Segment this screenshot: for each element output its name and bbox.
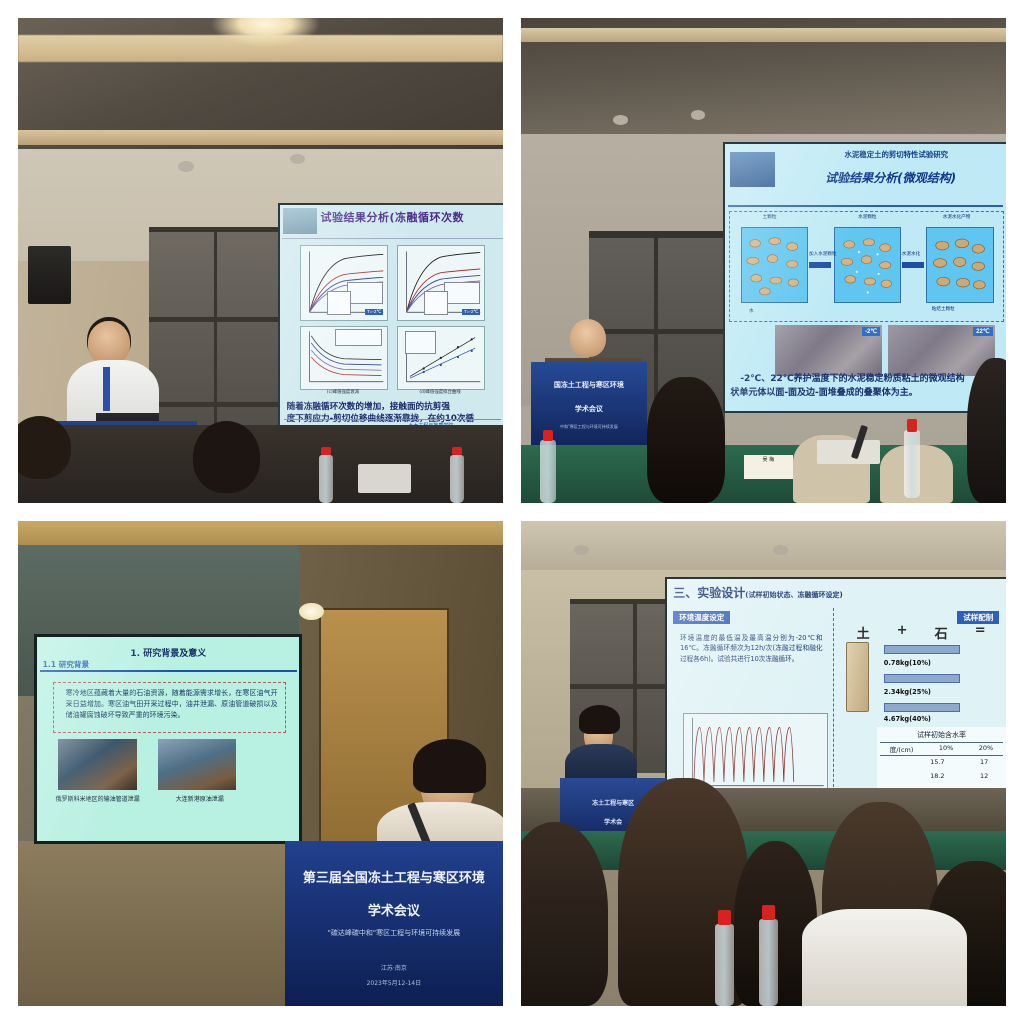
cell: 12	[980, 772, 988, 780]
smoke-detector-icon	[613, 115, 628, 125]
sem-temp-badge-left: -2℃	[862, 327, 880, 336]
water-bottle	[540, 440, 556, 503]
lower-wall	[18, 841, 309, 1006]
projection-screen: 三、实验设计(试样初始状态、冻融循环设定) 环境温度设定 试样配制 环境温度的最…	[667, 579, 1007, 822]
mix-chip-1	[884, 645, 961, 654]
case-photo-right-caption: 大连新港原油泄漏	[153, 794, 247, 803]
chart-d-caption: (d)峰值强度拟合曲线	[397, 389, 483, 395]
ceiling-trim	[18, 130, 503, 146]
table-header-2: 20%	[979, 744, 993, 754]
diagram-cell-3	[926, 227, 993, 303]
chandelier	[212, 18, 319, 47]
photo-top-right: 水泥稳定土的剪切特性试验研究 试验结果分析(微观结构)	[521, 18, 1006, 503]
banner-date: 2023年5月12-14日	[289, 978, 499, 987]
chart-a: T=-2℃	[300, 245, 388, 321]
smoke-detector-icon	[178, 161, 194, 172]
diagram-label-2: 水泥颗粒	[858, 214, 876, 220]
lectern-banner: 第三届全国冻土工程与寒区环境 学术会议 "碳达峰碳中和"寒区工程与环境可持续发展…	[285, 841, 503, 1006]
slide-research-background: 1. 研究背景及意义 1.1 研究背景 寒冷地区蕴藏着大量的石油资源，随着能源需…	[37, 637, 299, 841]
slide-title-main: 三、实验设计	[673, 586, 745, 600]
table-header-0: 度/(cm)	[890, 744, 914, 754]
mix-chip-3	[884, 703, 961, 712]
diagram-cell-2	[834, 227, 901, 303]
process-arrow-1	[809, 262, 831, 268]
column-divider	[833, 608, 834, 797]
mix-eq-3: =	[975, 623, 986, 642]
mix-chip-2	[884, 674, 961, 683]
diagram-label-3: 水泥水化产物	[943, 214, 971, 220]
slide-title: 试验结果分析(冻融循环次数	[320, 209, 503, 225]
chart-a-temp-badge: T=-2℃	[365, 309, 383, 315]
title-rule	[282, 238, 503, 239]
table-row: 18.2 12	[877, 772, 1006, 780]
photo-bottom-right: 三、实验设计(试样初始状态、冻融循环设定) 环境温度设定 试样配制 环境温度的最…	[521, 521, 1006, 1006]
photo-collage: 试验结果分析(冻融循环次数 T=-2℃	[0, 0, 1024, 1024]
smoke-detector-icon	[773, 545, 788, 555]
conclusion-line-1: -2℃、22℃养护温度下的水泥稳定粉质粘土的微观结构	[730, 373, 1000, 387]
conclusion-line-1: 随着冻融循环次数的增加，接触面的抗剪强	[287, 401, 499, 413]
chart-b-legend	[444, 282, 480, 303]
cell: 18.2	[930, 772, 944, 780]
mix-eq-0: 土	[857, 623, 870, 642]
water-bottle	[904, 430, 920, 498]
chart-b-inset	[424, 291, 448, 315]
chart-a-legend	[347, 282, 383, 303]
slide-subtitle: 1.1 研究背景	[43, 659, 89, 670]
diagram-label-5: 水	[749, 308, 754, 314]
mix-eq-2: 石	[935, 623, 948, 642]
table-row: 15.7 17	[877, 758, 1006, 766]
slide-header-photo	[730, 152, 775, 187]
title-rule	[728, 205, 1004, 207]
water-bottle	[715, 924, 734, 1006]
banner-location: 江苏·南京	[289, 963, 499, 972]
slide-microstructure: 水泥稳定土的剪切特性试验研究 试验结果分析(微观结构)	[725, 144, 1006, 411]
water-bottle	[450, 455, 465, 504]
chart-d	[397, 326, 485, 390]
body-text: 寒冷地区蕴藏着大量的石油资源，随着能源需求增长，在寒区油气开采日益增加。寒区油气…	[66, 688, 278, 721]
projection-screen: 试验结果分析(冻融循环次数 T=-2℃	[280, 205, 503, 443]
smoke-detector-icon	[691, 110, 706, 120]
cell: 15.7	[930, 758, 944, 766]
arrow-label-1: 加入水泥颗粒	[809, 251, 837, 257]
audience-head	[967, 358, 1006, 504]
photo-bottom-left: 1. 研究背景及意义 1.1 研究背景 寒冷地区蕴藏着大量的石油资源，随着能源需…	[18, 521, 503, 1006]
projection-screen: 1. 研究背景及意义 1.1 研究背景 寒冷地区蕴藏着大量的石油资源，随着能源需…	[37, 637, 299, 841]
process-arrow-2	[902, 262, 924, 268]
chart-d-legend	[405, 331, 436, 354]
body-text: 环境温度的最低温及最高温分别为-20℃和16℃。冻融循环频次为12h/次(冻融过…	[680, 633, 823, 665]
slide-freeze-thaw-results: 试验结果分析(冻融循环次数 T=-2℃	[280, 205, 503, 443]
table-header-1: 10%	[939, 744, 953, 754]
diagram-cell-1	[741, 227, 808, 303]
sem-temp-badge-right: 22℃	[973, 327, 992, 336]
mix-equation: 土 + 石 =	[843, 623, 999, 642]
chart-b: T=-2℃	[397, 245, 485, 321]
temperature-cycle-chart	[683, 713, 828, 793]
slide-title-sub: (试样初始状态、冻融循环设定)	[745, 591, 842, 599]
slide-title: 1. 研究背景及意义	[37, 646, 299, 659]
banner-line-3: "碳达峰碳中和"寒区工程与环境可持续发展	[289, 928, 499, 938]
slide-title: 三、实验设计(试样初始状态、冻融循环设定)	[673, 584, 842, 601]
chart-c-legend	[335, 329, 382, 346]
mix-mass-1: 0.78kg(10%)	[884, 659, 931, 667]
name-card: 吴 梅	[744, 455, 793, 479]
sem-image-left: -2℃	[775, 325, 882, 376]
banner-line-1: 第三届全国冻土工程与寒区环境	[289, 867, 499, 886]
presenter-head	[570, 319, 606, 358]
temperature-cycle-svg	[684, 714, 827, 792]
presenter-hair	[579, 705, 620, 734]
ceiling-cove-light	[521, 28, 1006, 43]
presenter-lanyard	[103, 367, 110, 411]
photo-top-left: 试验结果分析(冻融循环次数 T=-2℃	[18, 18, 503, 503]
projection-screen: 水泥稳定土的剪切特性试验研究 试验结果分析(微观结构)	[725, 144, 1006, 411]
case-photo-left	[58, 739, 137, 790]
conclusion-line-2: 状单元体以面-面及边-面堆叠成的叠聚体为主。	[730, 387, 1000, 401]
specimen-cylinder	[846, 642, 868, 712]
chart-c-caption: (c)峰值强度衰减	[300, 389, 386, 395]
chart-c	[300, 326, 388, 390]
table-header-row: 度/(cm) 10% 20%	[877, 744, 1006, 754]
chart-a-inset	[327, 291, 351, 315]
slide-title: 试验结果分析(微观结构)	[781, 169, 1000, 186]
slide-conclusion: -2℃、22℃养护温度下的水泥稳定粉质粘土的微观结构 状单元体以面-面及边-面堆…	[730, 373, 1000, 400]
mix-eq-1: +	[897, 623, 908, 642]
slide-header-photo	[283, 208, 317, 234]
downlight-icon	[299, 603, 323, 620]
section-badge-left: 环境温度设定	[673, 611, 730, 624]
projector	[817, 440, 880, 464]
slide-experiment-design: 三、实验设计(试样初始状态、冻融循环设定) 环境温度设定 试样配制 环境温度的最…	[667, 579, 1007, 822]
diagram-label-1: 土颗粒	[763, 214, 777, 220]
case-photo-right	[158, 739, 237, 790]
audience-head	[647, 377, 725, 503]
mix-mass-2: 2.34kg(25%)	[884, 688, 931, 696]
water-bottle	[319, 455, 334, 504]
projector	[358, 464, 411, 493]
smoke-detector-icon	[574, 545, 589, 555]
arrow-label-2: 水泥水化	[902, 251, 920, 257]
case-photo-left-caption: 俄罗斯科米地区的输油管道泄漏	[50, 794, 144, 803]
body-textbox: 寒冷地区蕴藏着大量的石油资源，随着能源需求增长，在寒区油气开采日益增加。寒区油气…	[53, 682, 285, 733]
foreground-shadow	[18, 425, 503, 503]
audience-head	[193, 421, 261, 494]
table-rule	[880, 742, 1004, 743]
water-bottle	[759, 919, 778, 1006]
cell: 17	[980, 758, 988, 766]
table-rule	[880, 755, 1004, 756]
table-title: 试样初始含水率	[877, 727, 1006, 740]
section-badge-right: 试样配制	[957, 611, 999, 624]
diagram-label-4: 粘结土颗粒	[932, 306, 955, 312]
wall-speaker	[28, 246, 72, 304]
footer-rule	[284, 419, 500, 420]
title-rule	[40, 670, 297, 672]
banner-line-2: 学术会议	[531, 404, 647, 414]
audience-shoulders	[802, 909, 967, 1006]
presenter-head	[88, 321, 129, 365]
mix-mass-3: 4.67kg(40%)	[884, 715, 931, 723]
banner-line-1: 国冻土工程与寒区环境	[531, 380, 647, 390]
chart-b-temp-badge: T=-2℃	[462, 309, 480, 315]
slide-suptitle: 水泥稳定土的剪切特性试验研究	[792, 149, 1000, 160]
microstructure-diagram: 土颗粒 水泥颗粒 水泥水化产物 粘结土颗粒 水 加入水泥颗粒 水泥水化	[729, 211, 1004, 322]
presenter-hair	[413, 739, 486, 792]
banner-line-2: 学术会议	[289, 900, 499, 919]
